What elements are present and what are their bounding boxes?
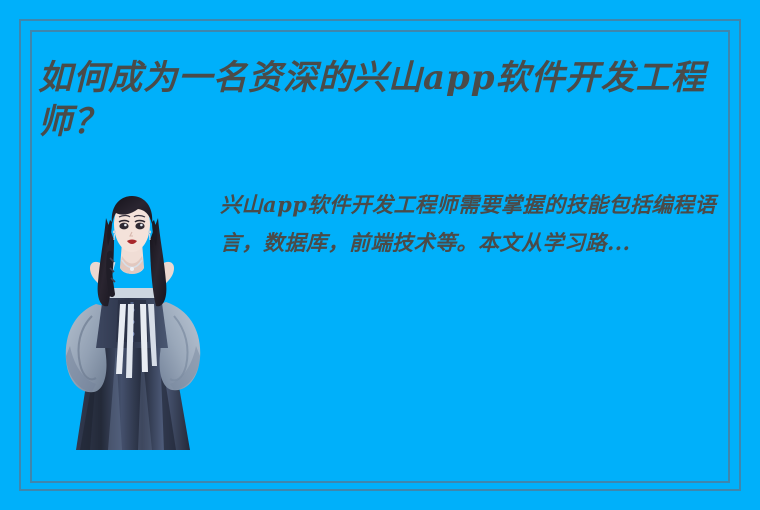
page-title: 如何成为一名资深的兴山app软件开发工程师？ — [38, 56, 732, 144]
hanfu-woman-illustration — [56, 196, 208, 452]
poster-canvas: 如何成为一名资深的兴山app软件开发工程师？ — [0, 0, 760, 510]
article-excerpt: 兴山app软件开发工程师需要掌握的技能包括编程语言，数据库，前端技术等。本文从学… — [220, 186, 720, 262]
